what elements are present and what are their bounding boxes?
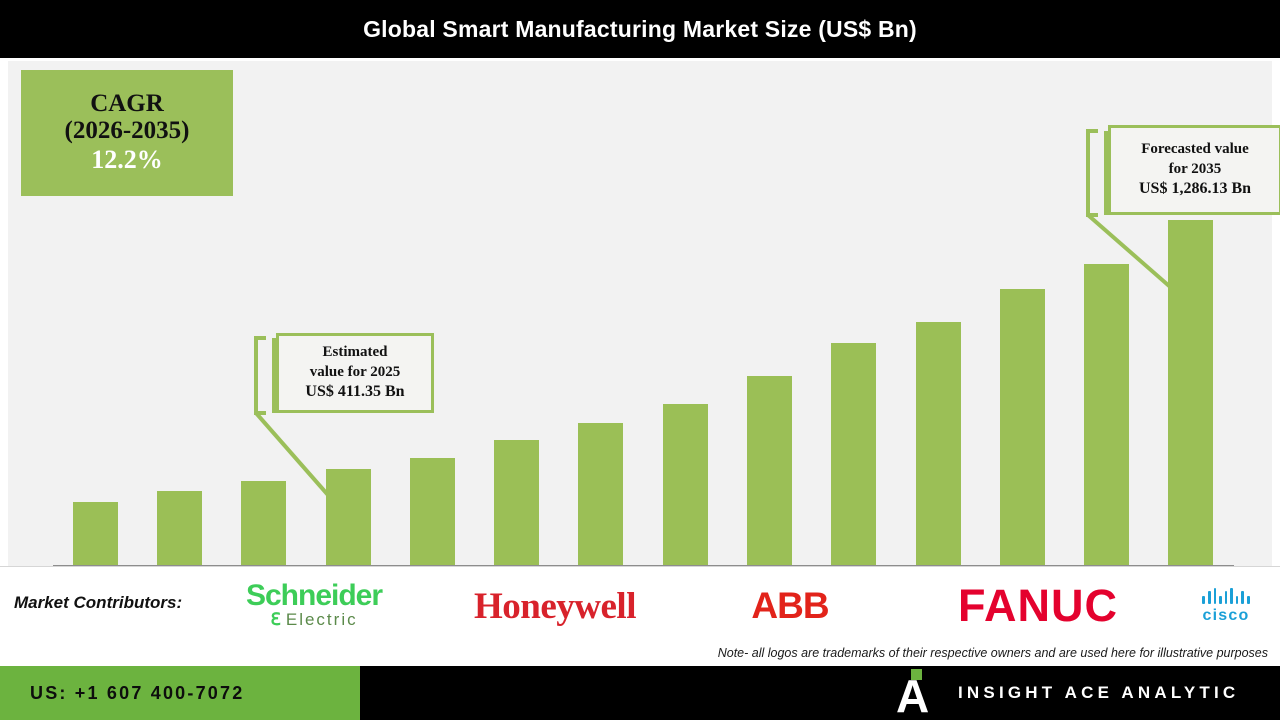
callout-forecast-2035: Forecasted value for 2035 US$ 1,286.13 B… (1108, 125, 1280, 215)
trademark-note: Note- all logos are trademarks of their … (568, 646, 1268, 662)
abb-wordmark: ABB (751, 585, 828, 627)
abb-logo: ABB (730, 579, 850, 633)
page-title: Global Smart Manufacturing Market Size (… (363, 16, 917, 43)
schneider-wordmark: Schneider (246, 582, 382, 611)
market-contributors-label: Market Contributors: (14, 593, 182, 613)
schneider-electric-logo: Schneider ℇElectric (232, 579, 396, 633)
title-bar: Global Smart Manufacturing Market Size (… (0, 0, 1280, 58)
cisco-wordmark: cisco (1203, 607, 1250, 625)
bar-2035 (1168, 220, 1213, 565)
bar-2033 (1000, 289, 1045, 565)
bar-2030 (747, 376, 792, 565)
insight-ace-logo-icon: A (894, 670, 936, 716)
bar-2025 (326, 469, 371, 565)
bar-2029 (663, 404, 708, 565)
bar-2026 (410, 458, 455, 565)
bar-2032 (916, 322, 961, 565)
brand-name: INSIGHT ACE ANALYTIC (958, 683, 1239, 703)
bar-2024 (241, 481, 286, 565)
callout-estimated-line1: Estimated (323, 343, 388, 363)
schneider-subtext: ℇElectric (270, 611, 357, 630)
bar-2031 (831, 343, 876, 565)
callout-estimated-2025: Estimated value for 2025 US$ 411.35 Bn (276, 333, 434, 413)
honeywell-wordmark: Honeywell (474, 585, 636, 628)
cagr-box: CAGR (2026-2035) 12.2% (21, 70, 233, 196)
bar-2027 (494, 440, 539, 565)
footer-bar: US: +1 607 400-7072 A INSIGHT ACE ANALYT… (0, 666, 1280, 720)
honeywell-logo: Honeywell (437, 579, 673, 633)
infographic-page: Global Smart Manufacturing Market Size (… (0, 0, 1280, 720)
bar-2028 (578, 423, 623, 565)
fanuc-wordmark: FANUC (958, 580, 1118, 632)
bar-2022 (73, 502, 118, 565)
cisco-logo: cisco (1180, 579, 1272, 633)
footer-brand-block: A INSIGHT ACE ANALYTIC (880, 666, 1280, 720)
schneider-swirl-icon: ℇ (270, 610, 282, 629)
bar-2034 (1084, 264, 1129, 565)
callout-estimated-value: US$ 411.35 Bn (305, 382, 404, 403)
footer-phone-number[interactable]: US: +1 607 400-7072 (30, 683, 244, 704)
callout-estimated-line2: value for 2025 (310, 363, 401, 383)
fanuc-logo: FANUC (903, 579, 1173, 633)
callout-forecast-value: US$ 1,286.13 Bn (1139, 179, 1251, 200)
market-contributors-strip: Market Contributors: Schneider ℇElectric… (0, 566, 1280, 666)
footer-phone-block[interactable]: US: +1 607 400-7072 (0, 666, 360, 720)
brand-letter-a: A (896, 674, 929, 718)
chart-panel: CAGR (2026-2035) 12.2% Estimated value f… (0, 58, 1280, 566)
cagr-label: CAGR (90, 90, 164, 117)
callout-forecast-line2: for 2035 (1169, 160, 1222, 180)
bar-2023 (157, 491, 202, 565)
cisco-bridge-icon (1202, 588, 1249, 604)
bar-chart-plot: CAGR (2026-2035) 12.2% Estimated value f… (8, 61, 1272, 566)
cagr-period: (2026-2035) (65, 117, 190, 144)
cagr-value: 12.2% (91, 144, 163, 177)
callout-forecast-line1: Forecasted value (1141, 140, 1249, 160)
